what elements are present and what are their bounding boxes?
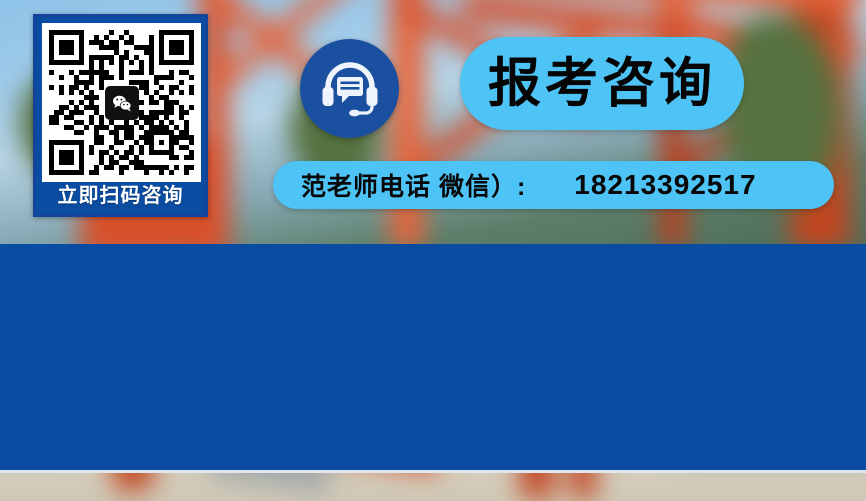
certification-info-panel: 特种作业: 电工证、焊工证、高处作业证、制冷作业、安全员证等 特种设备: 叉车证… [0,244,866,473]
qr-code-card[interactable]: 立即扫码咨询 [33,14,208,217]
contact-label: 范老师电话 微信）: [301,167,526,203]
qr-code-image[interactable] [42,23,201,182]
contact-phone-number[interactable]: 18213392517 [574,169,756,201]
qr-caption: 立即扫码咨询 [36,181,205,211]
headset-support-icon [300,39,399,138]
promo-poster: 立即扫码咨询 报考咨询 范老师电话 微信）: 18213392517 特种作业:… [0,0,866,501]
wechat-icon [105,86,139,120]
consult-title-text: 报考咨询 [488,57,716,110]
consult-title-pill[interactable]: 报考咨询 [460,37,744,130]
contact-phone-pill[interactable]: 范老师电话 微信）: 18213392517 [273,161,834,209]
